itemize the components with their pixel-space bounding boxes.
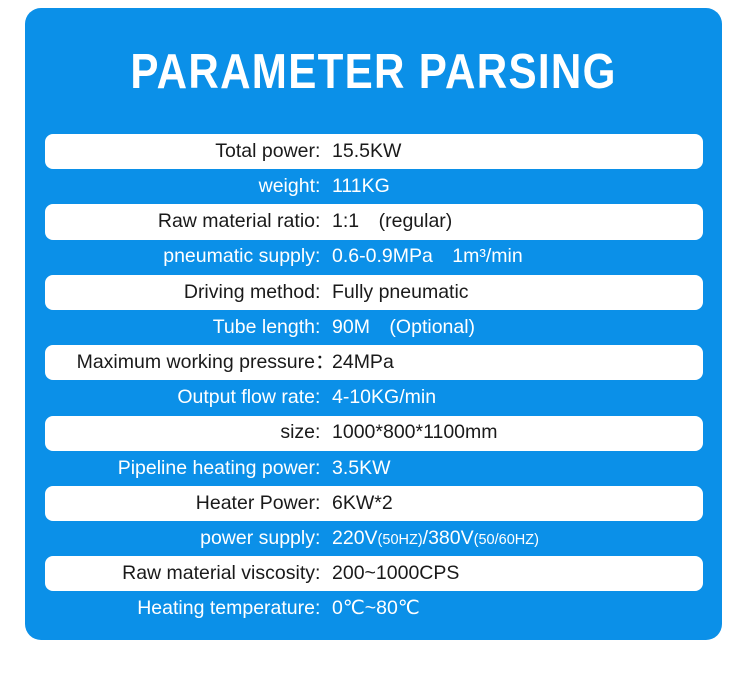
spec-label: Tube length <box>45 318 315 338</box>
spec-label: size <box>45 423 315 443</box>
spec-colon: : <box>315 283 331 303</box>
spec-value: 200~1000CPS <box>331 564 703 584</box>
spec-row-heater-power: Heater Power : 6KW*2 <box>45 486 703 521</box>
spec-colon: : <box>315 212 331 232</box>
spec-row-heating-temperature: Heating temperature : 0℃~80℃ <box>45 591 703 626</box>
spec-label: Maximum working pressure <box>45 353 315 373</box>
spec-colon: : <box>315 177 331 197</box>
spec-colon: : <box>315 142 331 162</box>
spec-row-weight: weight : 111KG <box>45 169 703 204</box>
spec-colon: : <box>315 388 331 408</box>
spec-label: Heating temperature <box>45 599 315 619</box>
spec-row-driving-method: Driving method : Fully pneumatic <box>45 275 703 310</box>
spec-label: Driving method <box>45 283 315 303</box>
spec-row-size: size : 1000*800*1100mm <box>45 416 703 451</box>
spec-value: 1000*800*1100mm <box>331 423 703 443</box>
spec-colon: : <box>315 247 331 267</box>
spec-row-maximum-working-pressure: Maximum working pressure ： 24MPa <box>45 345 703 380</box>
spec-row-total-power: Total power : 15.5KW <box>45 134 703 169</box>
spec-value: 4-10KG/min <box>331 388 703 408</box>
spec-colon: : <box>315 599 331 619</box>
spec-row-output-flow-rate: Output flow rate : 4-10KG/min <box>45 380 703 415</box>
spec-colon: : <box>315 423 331 443</box>
spec-value: 6KW*2 <box>331 494 703 514</box>
spec-value: 0.6-0.9MPa 1m³/min <box>331 247 703 267</box>
spec-colon: : <box>315 494 331 514</box>
spec-value: 24MPa <box>331 353 703 373</box>
spec-colon: : <box>315 318 331 338</box>
spec-label: Heater Power <box>45 494 315 514</box>
spec-row-power-supply: power supply : 220V(50HZ)/380V(50/60HZ) <box>45 521 703 556</box>
spec-colon: : <box>315 529 331 549</box>
spec-row-pneumatic-supply: pneumatic supply : 0.6-0.9MPa 1m³/min <box>45 240 703 275</box>
spec-value: 0℃~80℃ <box>331 599 703 619</box>
page-title: PARAMETER PARSING <box>74 44 673 100</box>
spec-label: Raw material viscosity <box>45 564 315 584</box>
spec-label: Total power <box>45 142 315 162</box>
spec-row-raw-material-viscosity: Raw material viscosity : 200~1000CPS <box>45 556 703 591</box>
spec-colon: : <box>315 459 331 479</box>
spec-value: Fully pneumatic <box>331 283 703 303</box>
spec-value: 1:1 (regular) <box>331 212 703 232</box>
spec-value: 3.5KW <box>331 459 703 479</box>
spec-value: 15.5KW <box>331 142 703 162</box>
spec-value: 220V(50HZ)/380V(50/60HZ) <box>331 529 703 549</box>
spec-label: weight <box>45 177 315 197</box>
spec-label: Raw material ratio <box>45 212 315 232</box>
spec-label: Output flow rate <box>45 388 315 408</box>
spec-value: 90M (Optional) <box>331 318 703 338</box>
spec-colon: ： <box>315 353 331 373</box>
spec-colon: : <box>315 564 331 584</box>
spec-label: power supply <box>45 529 315 549</box>
specifications-list: Total power : 15.5KW weight : 111KG Raw … <box>45 134 703 627</box>
spec-row-pipeline-heating-power: Pipeline heating power : 3.5KW <box>45 451 703 486</box>
spec-row-raw-material-ratio: Raw material ratio : 1:1 (regular) <box>45 204 703 239</box>
spec-label: Pipeline heating power <box>45 459 315 479</box>
spec-row-tube-length: Tube length : 90M (Optional) <box>45 310 703 345</box>
spec-label: pneumatic supply <box>45 247 315 267</box>
parameter-parsing-panel: PARAMETER PARSING Total power : 15.5KW w… <box>25 8 722 640</box>
spec-value: 111KG <box>331 177 703 197</box>
